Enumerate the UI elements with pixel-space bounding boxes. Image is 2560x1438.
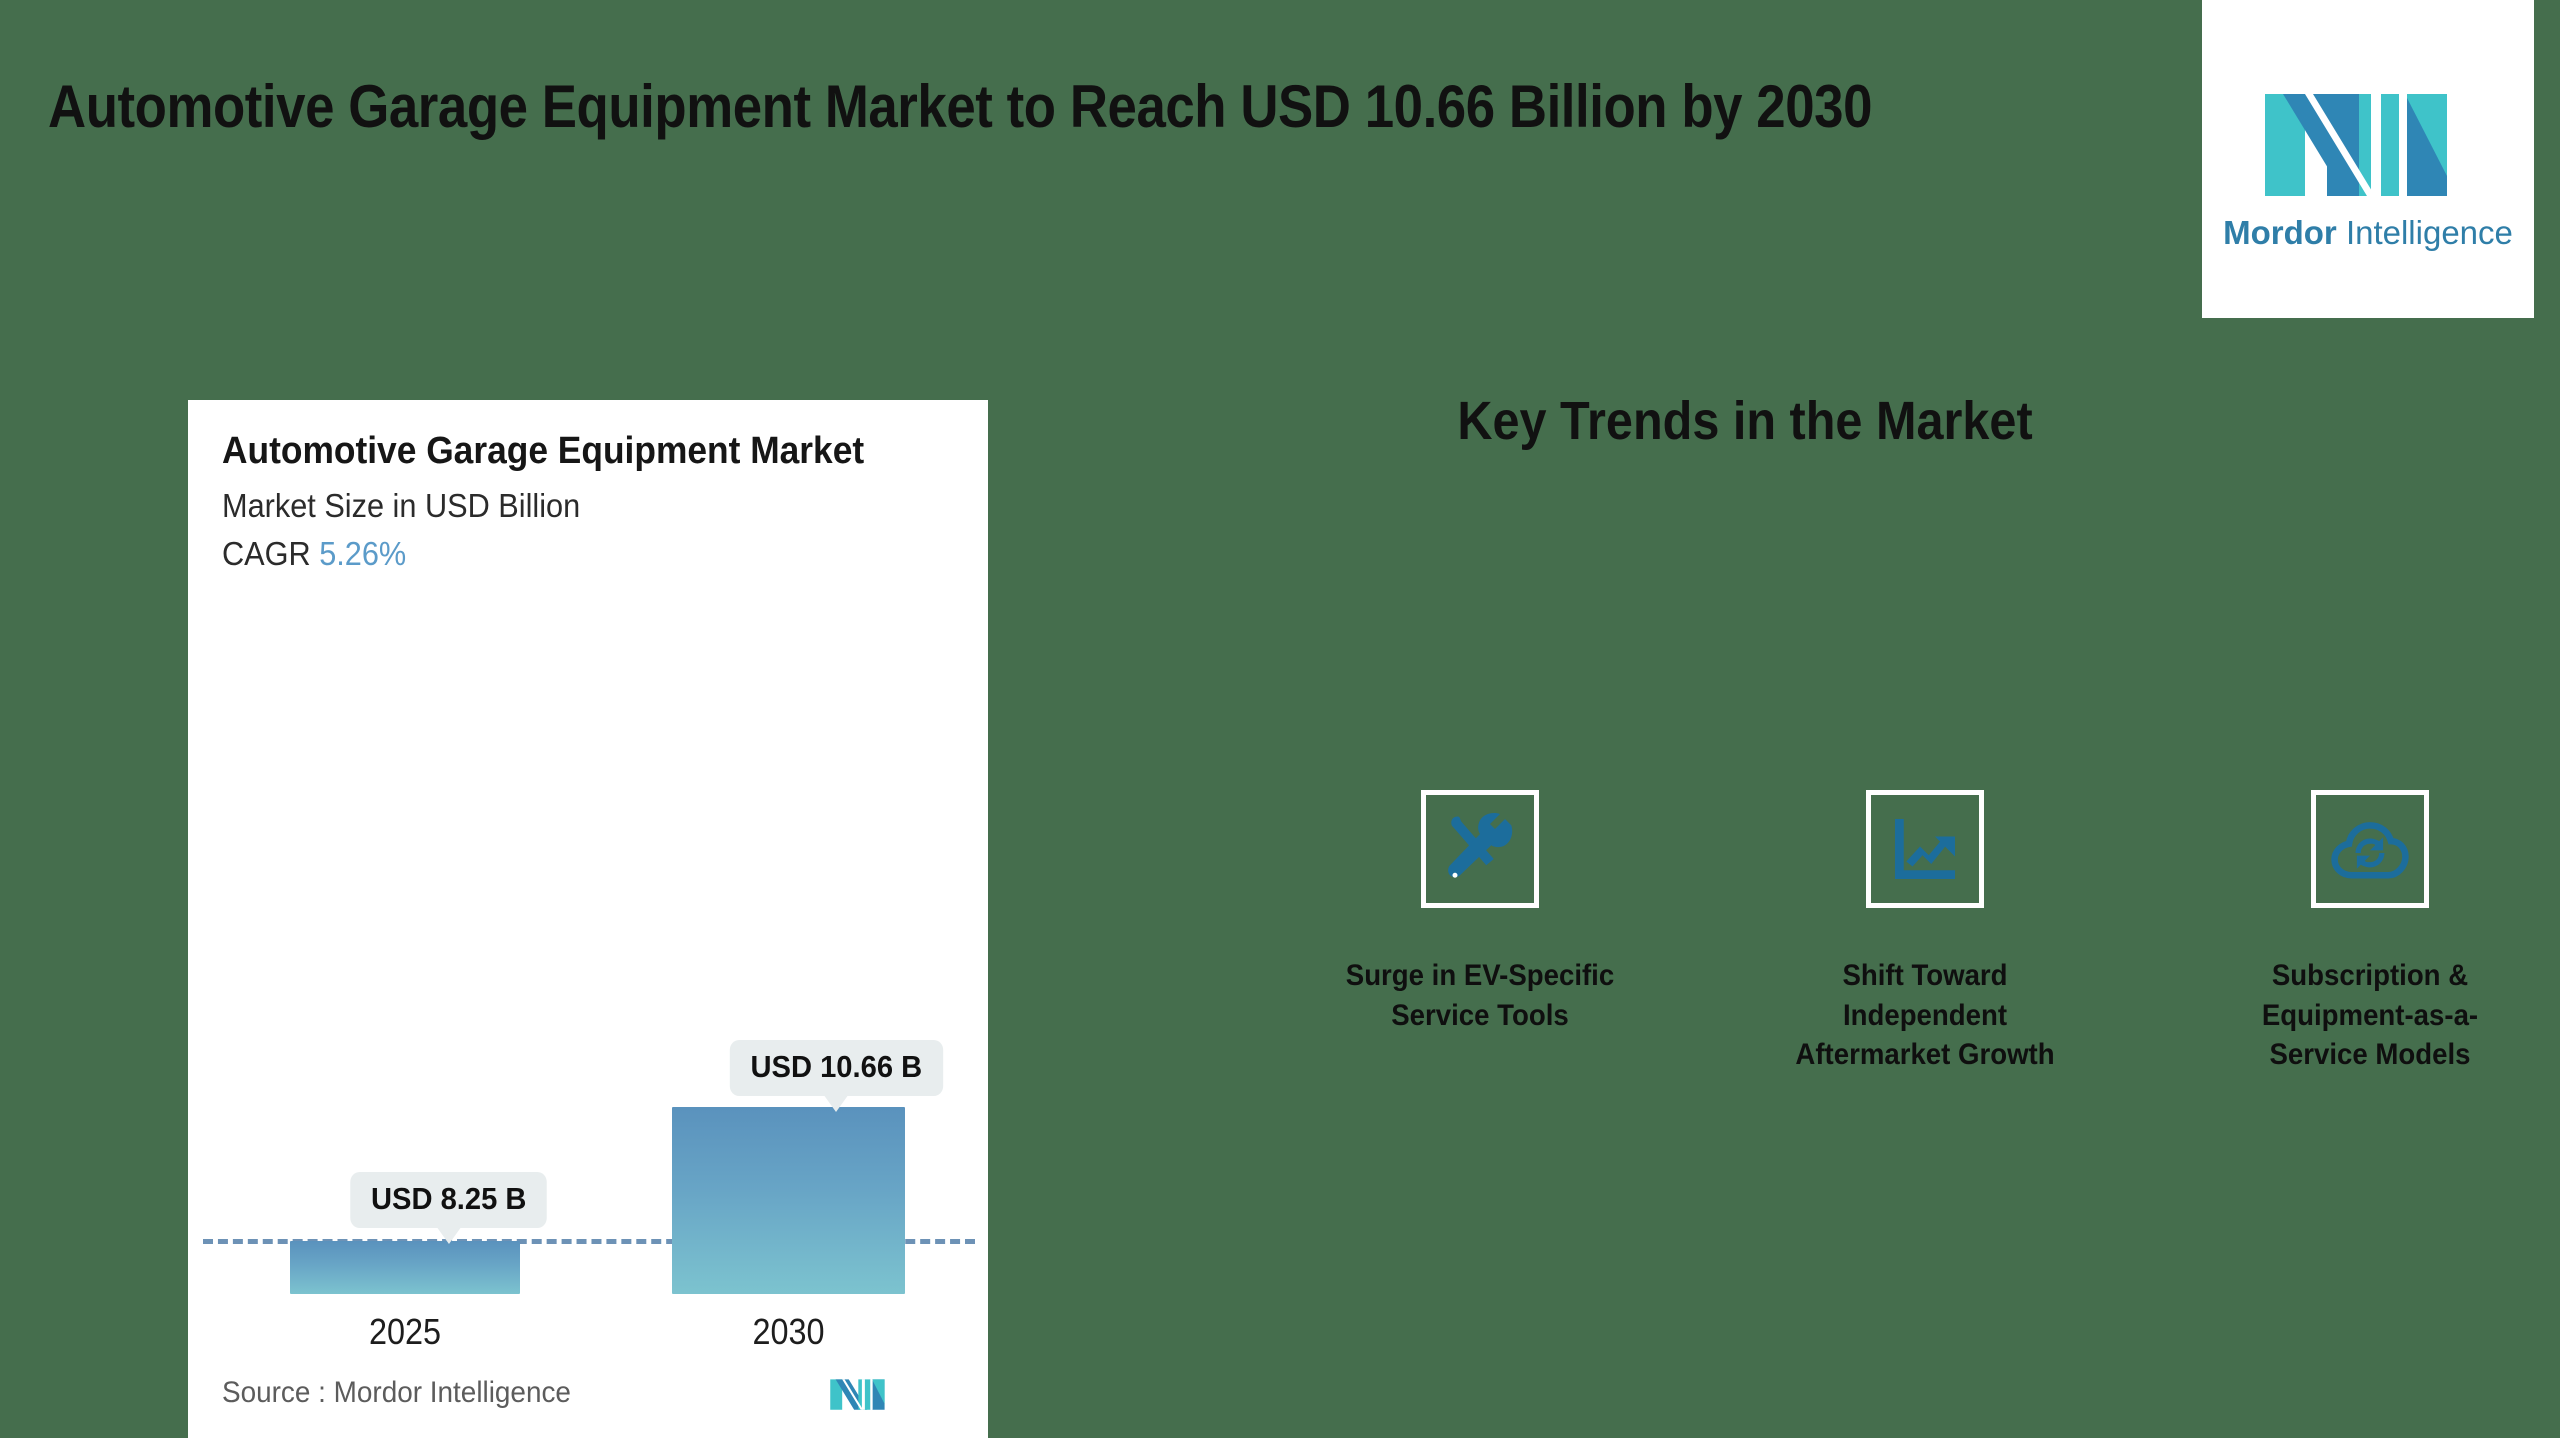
trend-icon-frame-2 — [1866, 790, 1984, 908]
page-title: Automotive Garage Equipment Market to Re… — [48, 72, 1878, 143]
value-label-2025: USD 8.25 B — [350, 1172, 547, 1228]
trend-icon-frame-1 — [1421, 790, 1539, 908]
chart-title: Automotive Garage Equipment Market — [222, 430, 903, 473]
trend-item-3[interactable]: Subscription & Equipment-as-a-Service Mo… — [2205, 790, 2535, 1075]
chart-cagr: CAGR 5.26% — [222, 535, 903, 573]
trend-icon-frame-3 — [2311, 790, 2429, 908]
cloud-sync-icon — [2328, 807, 2412, 891]
trend-label-3: Subscription & Equipment-as-a-Service Mo… — [2218, 956, 2522, 1075]
mordor-mark-icon — [825, 1371, 897, 1411]
trend-item-2[interactable]: Shift Toward Independent Aftermarket Gro… — [1760, 790, 2090, 1075]
brand-wordmark: Mordor Intelligence — [2223, 214, 2513, 252]
brand-word-light: Intelligence — [2346, 214, 2513, 251]
trends-heading: Key Trends in the Market — [1372, 390, 2119, 452]
tools-wrench-screwdriver-icon — [1440, 809, 1520, 889]
x-tick-2025: 2025 — [302, 1311, 509, 1353]
trend-item-1[interactable]: Surge in EV-Specific Service Tools — [1315, 790, 1645, 1035]
value-label-2030: USD 10.66 B — [730, 1040, 943, 1096]
cagr-label: CAGR — [222, 535, 311, 572]
bar-2025[interactable] — [290, 1241, 520, 1294]
trend-label-1: Surge in EV-Specific Service Tools — [1328, 956, 1632, 1035]
chart-card: Automotive Garage Equipment Market Marke… — [188, 400, 988, 1438]
growth-chart-arrow-icon — [1885, 809, 1965, 889]
brand-logo: Mordor Intelligence — [2202, 0, 2534, 318]
reference-dashed-line — [203, 1239, 975, 1244]
cagr-value: 5.26% — [319, 535, 406, 572]
brand-word-bold: Mordor — [2223, 214, 2337, 251]
trend-label-2: Shift Toward Independent Aftermarket Gro… — [1773, 956, 2077, 1075]
x-tick-2030: 2030 — [684, 1311, 894, 1353]
chart-subtitle: Market Size in USD Billion — [222, 487, 903, 525]
mordor-m-mark-icon — [2261, 66, 2475, 200]
bar-2030[interactable] — [672, 1107, 905, 1294]
chart-source: Source : Mordor Intelligence — [222, 1376, 571, 1410]
